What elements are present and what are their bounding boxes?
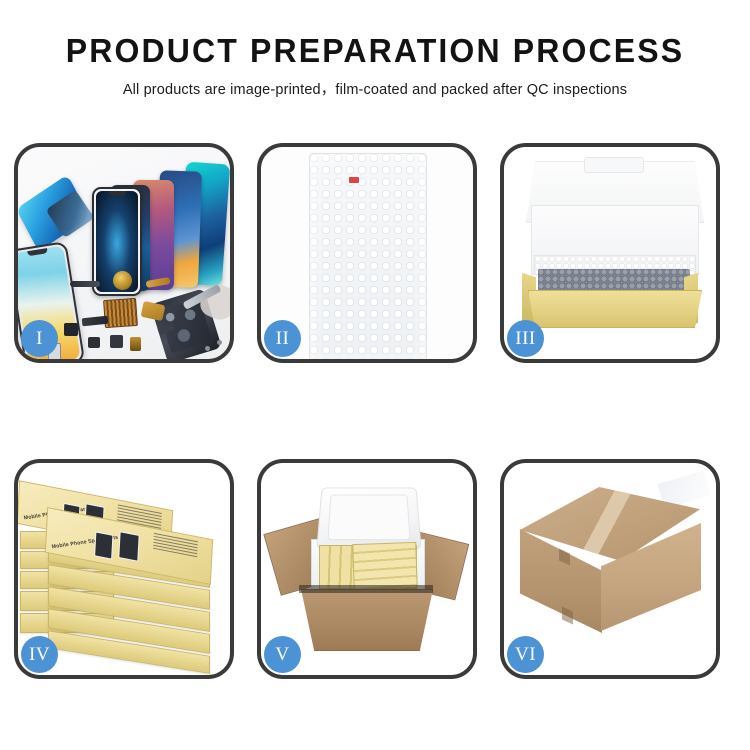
sensor-part-icon [110, 335, 123, 348]
small-part-icon [88, 337, 100, 348]
carton-body-icon [301, 589, 433, 651]
box-screen-graphic [94, 531, 113, 559]
carton-rim-icon [299, 585, 433, 593]
step-badge-2: II [264, 320, 301, 357]
process-step-grid: I II III [14, 143, 736, 679]
box-screen-graphic [118, 531, 139, 562]
process-step-panel-1[interactable]: I [14, 143, 234, 363]
bubble-wrap-bag-icon [309, 153, 427, 359]
speaker-coil-icon [113, 271, 132, 290]
process-step-panel-2[interactable]: II [257, 143, 477, 363]
gold-contact-icon [130, 337, 141, 351]
earpiece-part-icon [70, 281, 100, 287]
process-step-panel-3[interactable]: III [500, 143, 720, 363]
step-badge-3: III [507, 320, 544, 357]
page-title: PRODUCT PREPARATION PROCESS [11, 34, 739, 69]
gold-boxes-stack-icon [352, 542, 418, 590]
process-step-panel-4[interactable]: Mobile Phone Spare Parts Mobile Phone Sp… [14, 459, 234, 679]
foam-cooler-lid-icon [316, 487, 421, 549]
screw-icon [217, 340, 222, 345]
box-spec-lines [153, 533, 198, 559]
box-lid-tab-icon [584, 157, 644, 173]
red-label-icon [349, 177, 359, 183]
page-subtitle: All products are image-printed，film-coat… [0, 78, 750, 99]
step-badge-5: V [264, 636, 301, 673]
bubble-wrapped-item-icon [538, 269, 690, 293]
camera-module-icon [64, 323, 78, 336]
box-front-icon [528, 290, 702, 328]
chip-grid-icon [103, 298, 138, 328]
step-badge-6: VI [507, 636, 544, 673]
step-badge-1: I [21, 320, 58, 357]
step-badge-4: IV [21, 636, 58, 673]
page-header: PRODUCT PREPARATION PROCESS All products… [0, 0, 750, 99]
process-step-panel-5[interactable]: V [257, 459, 477, 679]
process-step-panel-6[interactable]: VI [500, 459, 720, 679]
screw-icon [205, 346, 210, 351]
